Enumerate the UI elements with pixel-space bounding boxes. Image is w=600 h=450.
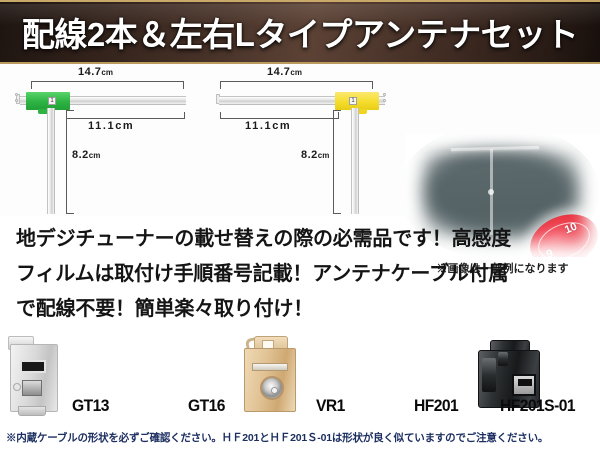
antenna-diagram-area: 14.7cm 1 11.1cm 8.2cm 14.7cm 1 [0,64,600,216]
right-pad-dots [383,93,386,105]
left-pad-number: 1 [48,97,56,105]
connector-label-gt16: GT16 [188,396,225,416]
footer-note: ※内蔵ケーブルの形状を必ずご確認ください。ＨＦ201とＨＦ201Ｓ-01は形状が… [0,424,600,450]
left-dim-top-bracket [31,81,184,88]
photo-film-marker [488,189,494,195]
description-block: 地デジチューナーの載せ替えの際の必需品です！高感度 フィルムは取付け手順番号記載… [0,218,600,330]
left-pad-dots [15,93,18,105]
right-dim-inner-bracket [220,112,339,119]
connector-gt13: GT13 [0,330,116,420]
left-antenna-diagram: 14.7cm 1 11.1cm 8.2cm [0,64,205,216]
left-dim-vertical-bracket [66,110,73,214]
right-dim-top-bracket [220,81,373,88]
right-vertical-film [351,108,359,214]
connector-vr1: VR1 [238,330,372,420]
right-dim-inner-label: 11.1cm [245,120,291,132]
page-title: 配線2本＆左右Lタイプアンテナセット [22,8,578,56]
right-dim-vertical-label: 8.2cm [301,149,329,161]
description-line-3: で配線不要！簡単楽々取り付け！ [16,292,584,327]
right-antenna-diagram: 14.7cm 1 11.1cm 8.2cm [205,64,405,216]
connector-label-vr1: VR1 [316,396,345,416]
connector-label-hf201s-01: HF201S-01 [500,396,575,416]
connector-gt16: GT16 [116,330,238,420]
right-dim-top-label: 14.7cm [267,66,302,78]
left-dim-inner-label: 11.1cm [88,120,134,132]
description-line-2: フィルムは取付け手順番号記載！アンテナケーブル付属 [16,257,584,292]
connector-types-row: GT13 GT16 VR1 HF201 HF201S-01 [0,330,600,420]
connector-label-hf201: HF201 [414,396,458,416]
connector-label-gt13: GT13 [72,396,109,416]
connector-hf201: HF201 [372,330,486,420]
right-dim-vertical-bracket [333,110,340,214]
gt13-connector-image [6,336,62,414]
left-dim-inner-bracket [66,112,185,119]
right-pad-number: 1 [349,97,357,105]
left-dim-vertical-label: 8.2cm [72,149,100,161]
connector-hf201s-01: HF201S-01 [486,330,600,420]
left-vertical-film [47,108,55,214]
left-dim-top-label: 14.7cm [78,66,113,78]
header-banner: 配線2本＆左右Lタイプアンテナセット [0,0,600,64]
description-line-1: 地デジチューナーの載せ替えの際の必需品です！高感度 [16,222,584,257]
